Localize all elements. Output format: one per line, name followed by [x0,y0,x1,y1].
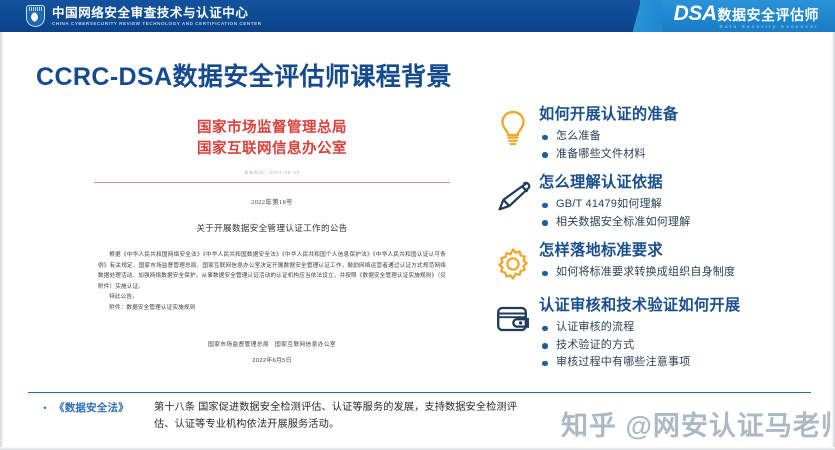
slide-canvas: 中国网络安全审查技术与认证中心 CHINA CYBERSECURITY REVI… [0,0,835,450]
page-edge-right [831,32,835,450]
official-notice-document: 国家市场监督管理总局 国家互联网信息办公室 发布时间：2022-06-09 20… [72,110,472,393]
topic-bullet-item: 技术验证的方式 [539,337,832,355]
topic-block: 怎样落地标准要求 如何将标准要求转换成组织自身制度 [487,240,832,286]
notice-issuer-line-2: 国家互联网信息办公室 [72,139,472,160]
dsa-brand-en: Data Security Assessor [718,23,820,30]
topic-title: 如何开展认证的准备 [539,105,832,124]
notice-signature-orgs: 国家市场监督管理总局 国家互联网信息办公室 [72,339,472,348]
lightbulb-icon [487,104,539,150]
topic-title: 认证审核和技术验证如何开展 [539,296,832,315]
topic-title: 怎样落地标准要求 [539,241,832,260]
notice-body-paragraph-2: 特此公告。 [98,292,446,303]
dsa-brand-block: DSA 数据安全评估师 Data Security Assessor [674,3,819,30]
topic-bullet-item: 相关数据安全标准如何理解 [539,214,832,232]
shield-emblem-top-detail [29,7,42,11]
law-note-bullet: • [36,400,54,416]
header-left-band: 中国网络安全审查技术与认证中心 CHINA CYBERSECURITY REVI… [0,0,640,32]
gear-icon [487,240,539,286]
notice-issue-number: 2022年第18号 [72,196,472,206]
notice-signature-block: 国家市场监督管理总局 国家互联网信息办公室 2022年6月5日 [72,339,472,364]
topic-bullet-item: 怎么准备 [539,128,832,146]
topic-bullet-list: 怎么准备 准备哪些文件材料 [539,128,832,163]
dsa-brand-text-block: 数据安全评估师 Data Security Assessor [718,8,820,30]
organization-name-en: CHINA CYBERSECURITY REVIEW TECHNOLOGY AN… [52,20,262,27]
notice-body: 根据《中华人民共和国网络安全法》《中华人民共和国数据安全法》《中华人民共和国个人… [98,250,446,313]
topics-column: 如何开展认证的准备 怎么准备 准备哪些文件材料 怎么理解认证依据 GB/T 41 [487,104,832,381]
topic-body: 怎么理解认证依据 GB/T 41479如何理解 相关数据安全标准如何理解 [539,172,832,231]
wallet-icon [487,295,539,341]
notice-subject-title: 关于开展数据安全管理认证工作的公告 [72,222,472,234]
notice-issuer-line-1: 国家市场监督管理总局 [72,118,472,139]
pencil-icon [487,172,539,218]
topic-bullet-item: 认证审核的流程 [539,319,832,337]
topic-block: 认证审核和技术验证如何开展 认证审核的流程 技术验证的方式 审核过程中有哪些注意… [487,295,832,372]
topic-bullet-list: GB/T 41479如何理解 相关数据安全标准如何理解 [539,196,832,231]
law-clause-text: 第十八条 国家促进数据安全检测评估、认证等服务的发展，支持数据安全检测评估、认证… [154,400,536,433]
topic-bullet-list: 认证审核的流程 技术验证的方式 审核过程中有哪些注意事项 [539,319,832,372]
law-reference-note: • 《数据安全法》 第十八条 国家促进数据安全检测评估、认证等服务的发展，支持数… [36,400,536,433]
header-right-band: DSA 数据安全评估师 Data Security Assessor [640,0,835,32]
watermark: 知乎 @网安认证马老师 [561,404,835,443]
page-title: CCRC-DSA数据安全评估师课程背景 [36,57,452,93]
topic-bullet-item: 审核过程中有哪些注意事项 [539,354,832,372]
notice-divider-rule [94,182,450,183]
notice-datestamp: 发布时间：2022-06-09 [72,170,472,176]
topic-block: 如何开展认证的准备 怎么准备 准备哪些文件材料 [487,104,832,163]
topic-block: 怎么理解认证依据 GB/T 41479如何理解 相关数据安全标准如何理解 [487,172,832,231]
topic-bullet-item: 如何将标准要求转换成组织自身制度 [539,264,832,282]
notice-body-paragraph-1: 根据《中华人民共和国网络安全法》《中华人民共和国数据安全法》《中华人民共和国个人… [98,250,446,292]
page-edge-left [0,32,4,450]
topic-title: 怎么理解认证依据 [539,173,832,192]
slide-header: 中国网络安全审查技术与认证中心 CHINA CYBERSECURITY REVI… [0,0,835,32]
dsa-brand-cn: 数据安全评估师 [718,8,820,23]
notice-signature-date: 2022年6月5日 [72,355,472,364]
notice-body-paragraph-3: 附件：数据安全管理认证实施规则 [98,303,446,314]
bottom-divider [28,392,811,393]
organization-name-block: 中国网络安全审查技术与认证中心 CHINA CYBERSECURITY REVI… [52,6,262,27]
topic-bullet-list: 如何将标准要求转换成组织自身制度 [539,264,832,282]
topic-body: 认证审核和技术验证如何开展 认证审核的流程 技术验证的方式 审核过程中有哪些注意… [539,295,832,372]
topic-bullet-item: 准备哪些文件材料 [539,146,832,164]
shield-emblem-icon [26,5,45,27]
topic-body: 如何开展认证的准备 怎么准备 准备哪些文件材料 [539,104,832,163]
topic-bullet-item: GB/T 41479如何理解 [539,196,832,214]
dsa-brand-mark: DSA [674,3,717,24]
topic-body: 怎样落地标准要求 如何将标准要求转换成组织自身制度 [539,240,832,282]
organization-name-cn: 中国网络安全审查技术与认证中心 [52,6,262,20]
law-name: 《数据安全法》 [54,400,154,416]
